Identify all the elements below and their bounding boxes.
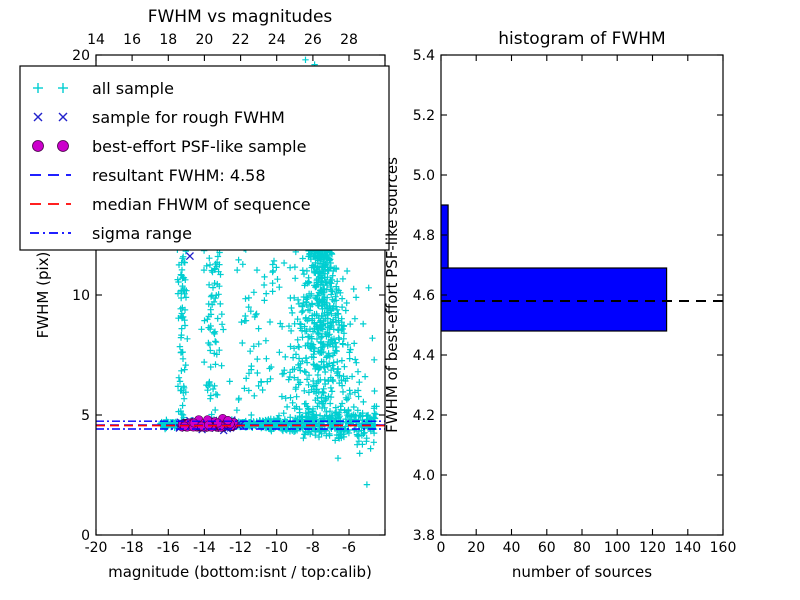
left-bottom-ticks	[96, 529, 385, 535]
right-ytick-3-8: 3.8	[413, 528, 435, 544]
left-xtick-top-0: 14	[87, 32, 105, 48]
right-x-tick-labels: 0 20 40 60 80 100 120 140 160	[437, 540, 737, 556]
right-xtick-0: 0	[437, 540, 446, 556]
legend-label-median-fhwm: median FHWM of sequence	[92, 195, 311, 214]
left-xtick-top-7: 28	[340, 32, 358, 48]
right-ytick-4-4: 4.4	[413, 348, 435, 364]
left-xtick-bottom-1: -18	[121, 540, 144, 556]
right-bottom-ticks	[441, 529, 723, 535]
figure-canvas: -20 -18 -16 -14 -12 -10 -8 -6 14 16 18 2…	[0, 0, 800, 600]
legend-label-all-sample: all sample	[92, 79, 174, 98]
left-xtick-bottom-4: -12	[229, 540, 252, 556]
right-top-ticks	[441, 55, 723, 61]
right-xtick-80: 80	[573, 540, 591, 556]
left-xtick-bottom-5: -10	[265, 540, 288, 556]
left-bottom-tick-labels: -20 -18 -16 -14 -12 -10 -8 -6	[85, 540, 357, 556]
left-top-ticks	[96, 55, 385, 61]
left-xtick-top-2: 18	[159, 32, 177, 48]
right-panel: 0 20 40 60 80 100 120 140 160 3.8 4.0 4.…	[383, 29, 736, 581]
right-ytick-4-2: 4.2	[413, 408, 435, 424]
left-xtick-top-1: 16	[123, 32, 141, 48]
left-ytick-20: 20	[72, 48, 90, 64]
right-xtick-160: 160	[710, 540, 737, 556]
right-xtick-20: 20	[467, 540, 485, 556]
left-panel-title: FWHM vs magnitudes	[148, 7, 333, 27]
right-panel-ylabel: FWHM of best-effort PSF-like sources	[383, 157, 401, 433]
legend-label-rough-fwhm: sample for rough FWHM	[92, 108, 285, 127]
left-xtick-top-6: 26	[304, 32, 322, 48]
right-xtick-100: 100	[604, 540, 631, 556]
left-xtick-top-4: 22	[232, 32, 250, 48]
right-panel-xlabel: number of sources	[512, 563, 652, 581]
left-ytick-0: 0	[81, 528, 90, 544]
right-y-ticks	[441, 55, 447, 535]
left-panel-xlabel: magnitude (bottom:isnt / top:calib)	[108, 563, 372, 581]
right-xtick-40: 40	[503, 540, 521, 556]
right-y-tick-labels: 3.8 4.0 4.2 4.4 4.6 4.8 5.0 5.2 5.4	[413, 48, 435, 544]
right-panel-title: histogram of FWHM	[498, 29, 665, 49]
left-xtick-bottom-2: -16	[157, 540, 180, 556]
right-ytick-4-0: 4.0	[413, 468, 435, 484]
left-ytick-10: 10	[72, 288, 90, 304]
legend-box	[20, 66, 389, 250]
left-xtick-top-5: 24	[268, 32, 286, 48]
left-xtick-bottom-3: -14	[193, 540, 216, 556]
left-xtick-top-3: 20	[195, 32, 213, 48]
right-ytick-5-4: 5.4	[413, 48, 435, 64]
legend-label-psf-like: best-effort PSF-like sample	[92, 137, 306, 156]
left-xtick-bottom-7: -6	[342, 540, 356, 556]
right-ytick-5-2: 5.2	[413, 108, 435, 124]
left-xtick-bottom-6: -8	[306, 540, 320, 556]
right-xtick-60: 60	[538, 540, 556, 556]
left-ytick-5: 5	[81, 408, 90, 424]
legend-label-sigma-range: sigma range	[92, 224, 192, 243]
histogram-data-layer	[441, 205, 723, 331]
legend-label-resultant-fwhm: resultant FWHM: 4.58	[92, 166, 266, 185]
right-xtick-120: 120	[639, 540, 666, 556]
left-panel: -20 -18 -16 -14 -12 -10 -8 -6 14 16 18 2…	[20, 7, 389, 581]
right-ytick-4-6: 4.6	[413, 288, 435, 304]
right-ytick-5-0: 5.0	[413, 168, 435, 184]
left-top-tick-labels: 14 16 18 20 22 24 26 28	[87, 32, 358, 48]
histogram-bar	[441, 268, 667, 331]
right-ytick-4-8: 4.8	[413, 228, 435, 244]
histogram-bar	[441, 205, 448, 268]
left-panel-ylabel: FWHM (pix)	[34, 252, 52, 339]
right-right-edge-ticks	[717, 55, 723, 535]
matplotlib-figure: -20 -18 -16 -14 -12 -10 -8 -6 14 16 18 2…	[0, 0, 800, 600]
right-xtick-140: 140	[674, 540, 701, 556]
legend: all sample sample for rough FWHM	[20, 66, 389, 250]
